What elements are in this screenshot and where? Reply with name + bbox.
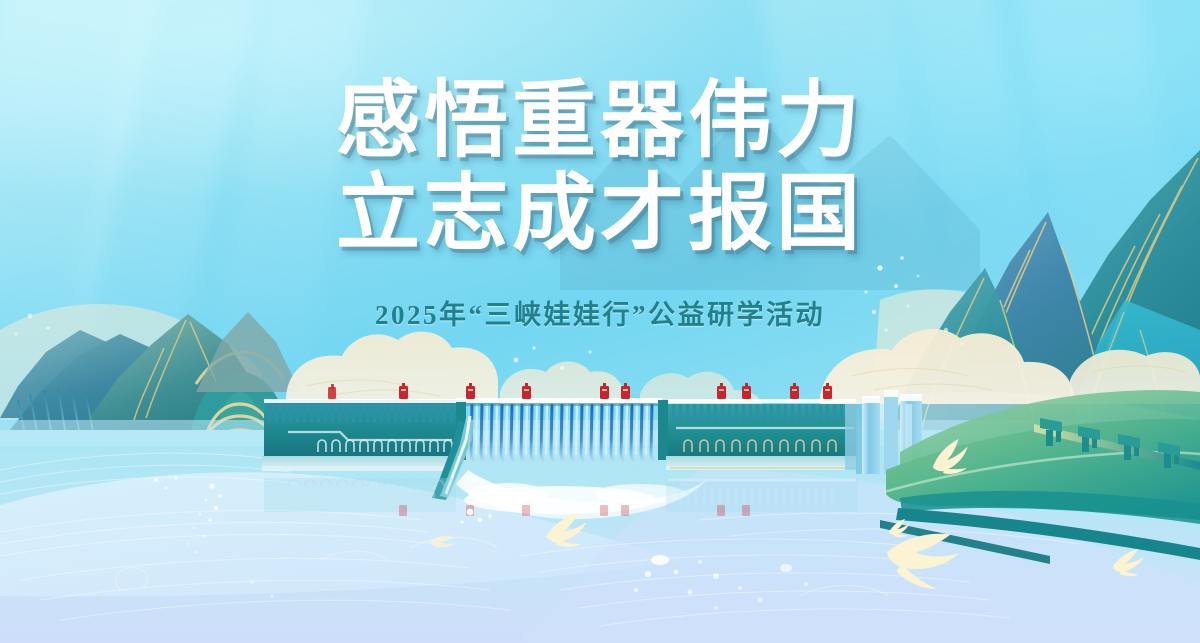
foreground-details-layer: [0, 0, 1200, 643]
spray-bubbles: [14, 256, 963, 610]
banner-poster: 感悟重器伟力 立志成才报国 2025年“三峡娃娃行”公益研学活动: [0, 0, 1200, 643]
